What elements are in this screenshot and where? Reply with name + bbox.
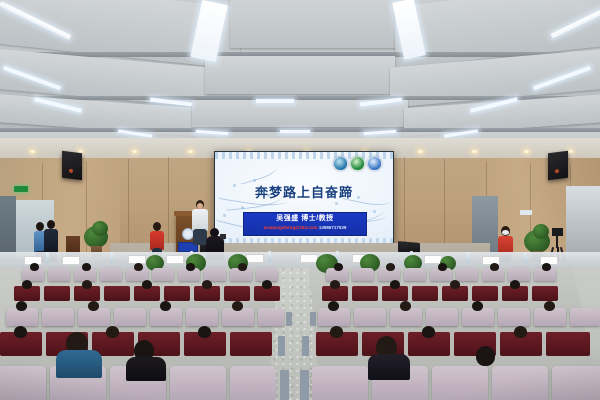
auditorium-photo: 奔梦路上自奋蹄 吴强盛 博士/教授 wuqiangsheng@163.com 1… <box>0 0 600 400</box>
exit-sign <box>14 186 28 192</box>
seat-row[interactable] <box>0 266 600 282</box>
seat-row[interactable] <box>0 282 600 302</box>
right-wall-speaker <box>548 151 568 180</box>
slide-title: 奔梦路上自奋蹄 <box>215 182 393 201</box>
left-wall-speaker <box>62 151 82 180</box>
seat-row[interactable] <box>0 302 600 326</box>
ceiling <box>0 0 600 152</box>
speaker-name: 吴强盛 博士/教授 <box>244 213 366 224</box>
speaker-email: wuqiangsheng@163.com <box>264 225 318 230</box>
logo-blue-mountain <box>333 156 348 171</box>
door-placard <box>520 210 532 215</box>
seat-row[interactable] <box>0 356 600 400</box>
speaker-contact: wuqiangsheng@163.com 13986717539 <box>244 224 366 232</box>
speaker-name-bar: 吴强盛 博士/教授 wuqiangsheng@163.com 139867175… <box>243 212 367 236</box>
projection-screen: 奔梦路上自奋蹄 吴强盛 博士/教授 wuqiangsheng@163.com 1… <box>214 151 394 245</box>
logo-green-emblem <box>350 156 365 171</box>
logo-blue-swirl <box>367 156 382 171</box>
speaker-phone: 13986717539 <box>319 225 347 230</box>
